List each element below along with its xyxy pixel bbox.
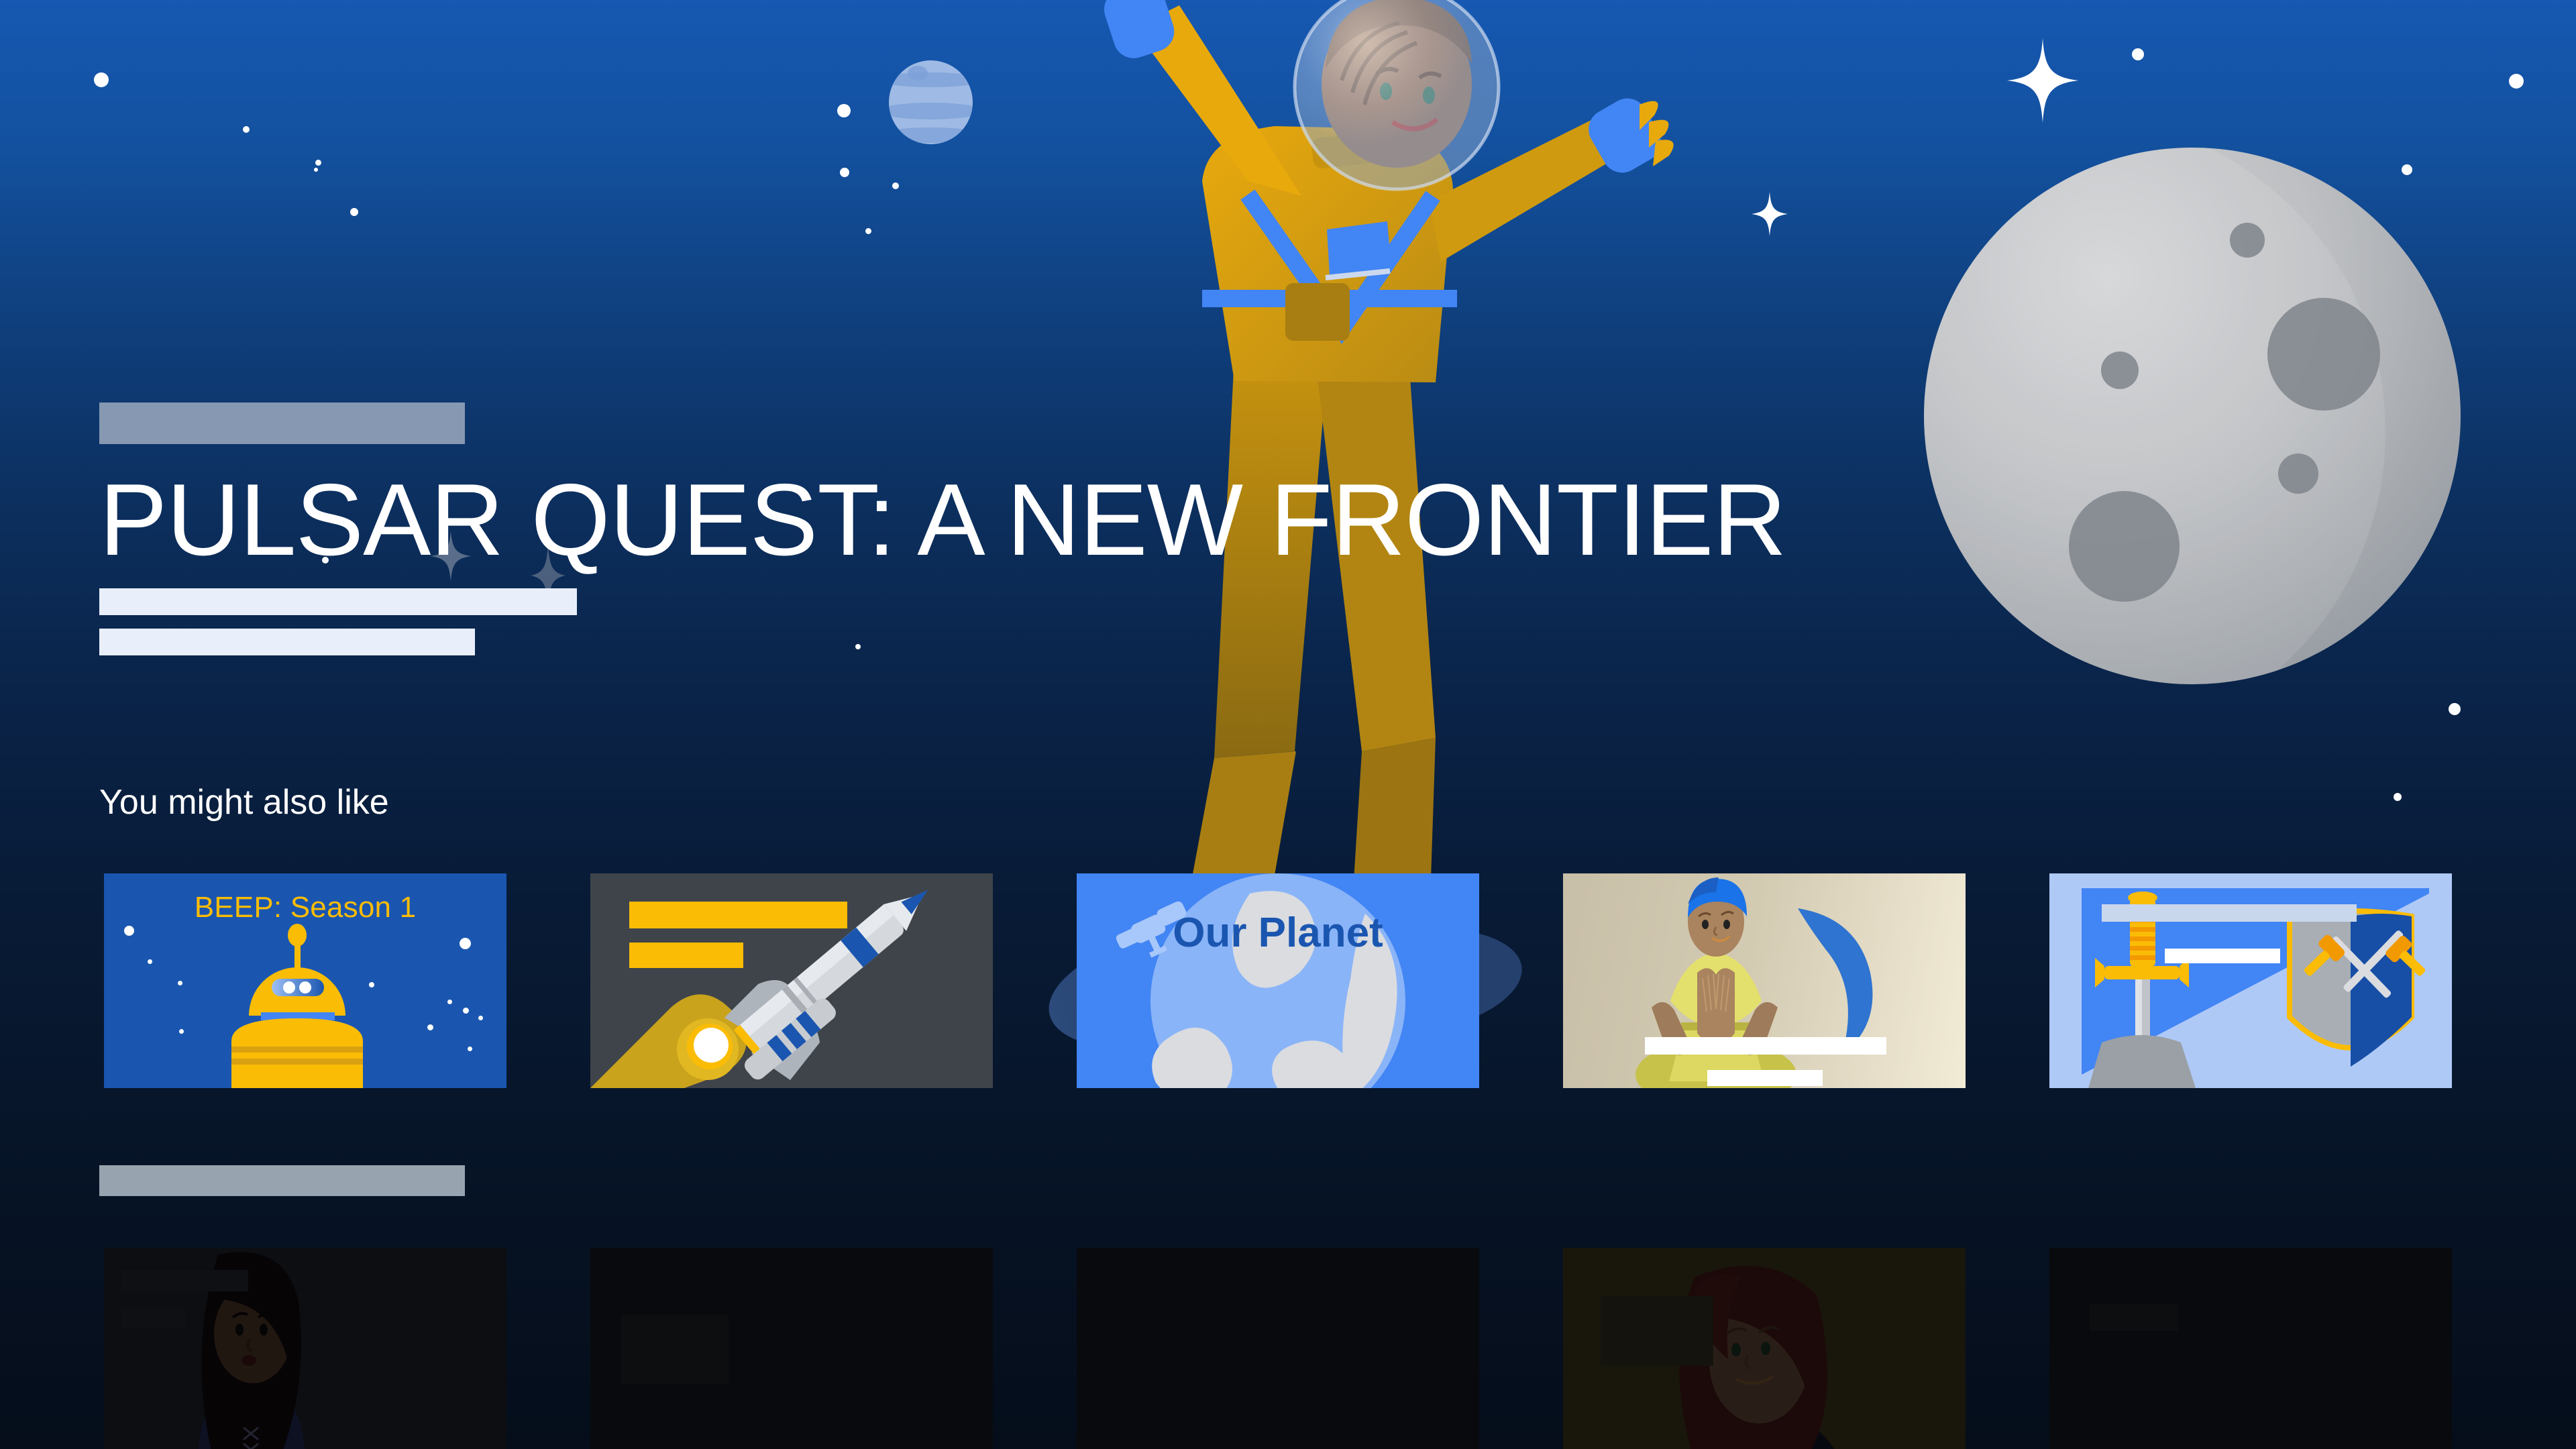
card-placeholder-bar xyxy=(629,902,847,928)
star xyxy=(837,104,851,117)
card-row2-2[interactable] xyxy=(590,1248,993,1449)
card-placeholder-bar xyxy=(121,1270,248,1291)
moon-crater xyxy=(2101,352,2139,389)
card-our-planet[interactable]: Our Planet xyxy=(1077,873,1479,1088)
card-placeholder-bar xyxy=(629,943,743,968)
meditation-icon xyxy=(1563,873,1966,1088)
sparkle-star-icon xyxy=(2006,37,2080,124)
card-placeholder-bar xyxy=(621,1315,729,1385)
row-title-placeholder xyxy=(99,1165,465,1196)
star xyxy=(2394,793,2402,801)
hero-kicker-placeholder xyxy=(99,402,465,444)
star xyxy=(350,208,358,216)
card-meditation[interactable] xyxy=(1563,873,1966,1088)
row-title-recommendations: You might also like xyxy=(99,782,389,822)
card-row2-3[interactable] xyxy=(1077,1248,1479,1449)
star xyxy=(840,168,849,177)
card-beep-season-1[interactable]: BEEP: Season 1 xyxy=(104,873,506,1088)
star xyxy=(314,168,318,172)
card-placeholder-bar xyxy=(2090,1304,2178,1331)
star xyxy=(2509,74,2524,89)
card-row2-5[interactable] xyxy=(2049,1248,2452,1449)
card-row2-1[interactable] xyxy=(104,1248,506,1449)
moon-crater xyxy=(2069,491,2180,602)
globe-icon xyxy=(1077,873,1479,1088)
star xyxy=(2132,48,2144,60)
card-placeholder-bar xyxy=(1645,1037,1886,1055)
moon-crater xyxy=(2230,223,2265,258)
hero-subtitle-placeholder-2 xyxy=(99,629,475,655)
card-placeholder-bar xyxy=(121,1307,185,1328)
hero-page: PULSAR QUEST: A NEW FRONTIER You might a… xyxy=(0,0,2576,1449)
sparkle-star-icon xyxy=(1751,191,1788,237)
card-placeholder-bar xyxy=(2165,949,2280,963)
star xyxy=(243,126,250,133)
recommendations-rail[interactable]: BEEP: Season 1 xyxy=(104,873,2452,1088)
star xyxy=(94,72,109,87)
card-rocket[interactable] xyxy=(590,873,993,1088)
star xyxy=(865,228,871,234)
star xyxy=(2402,164,2412,175)
star xyxy=(2449,703,2461,715)
star xyxy=(315,160,321,166)
star xyxy=(892,182,899,189)
moon-crater xyxy=(2278,453,2318,494)
hero-copy: PULSAR QUEST: A NEW FRONTIER xyxy=(99,402,2045,655)
hero-subtitle-placeholder-1 xyxy=(99,588,577,615)
robot-icon xyxy=(104,873,506,1088)
card-placeholder-bar xyxy=(2102,904,2357,922)
page-title: PULSAR QUEST: A NEW FRONTIER xyxy=(99,468,2045,572)
card-row2-4[interactable] xyxy=(1563,1248,1966,1449)
row-2-rail[interactable] xyxy=(104,1248,2452,1449)
moon-crater xyxy=(2267,298,2380,411)
card-title: Our Planet xyxy=(1077,908,1479,957)
card-sword-and-shield[interactable] xyxy=(2049,873,2452,1088)
card-placeholder-bar xyxy=(1601,1296,1713,1366)
card-placeholder-bar xyxy=(1707,1070,1823,1086)
